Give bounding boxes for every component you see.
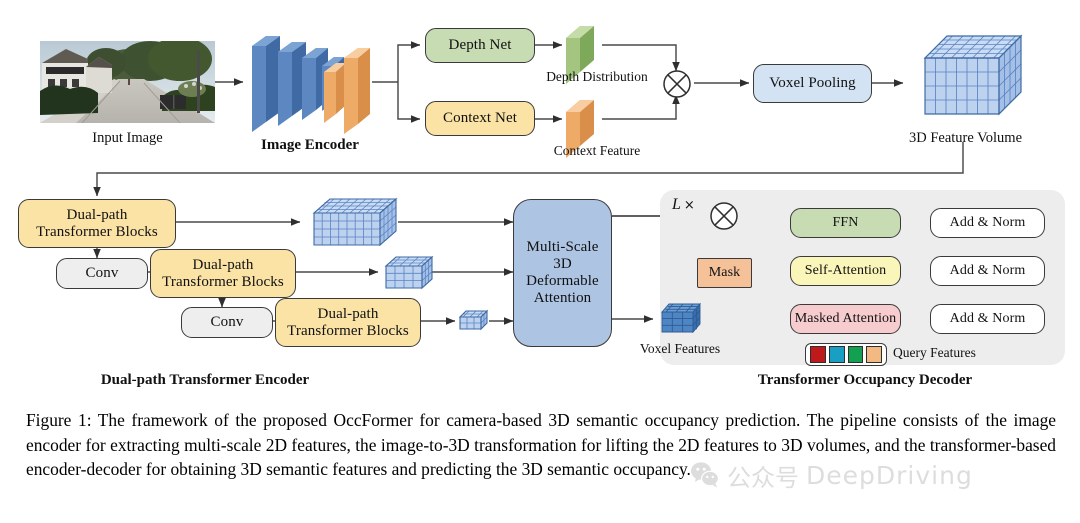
query-color-swatch-2 — [829, 346, 845, 363]
multiscale-3d-deformable-attention-box[interactable]: Multi-Scale 3D Deformable Attention — [513, 199, 612, 347]
add-norm-box-2[interactable]: Add & Norm — [930, 256, 1045, 286]
dual-path-block-3-line1: Dual-path — [318, 306, 379, 323]
multiscale-voxel-grid-medium — [378, 252, 438, 294]
dual-path-block-2-line2: Transformer Blocks — [162, 274, 284, 291]
dual-path-block-3-line2: Transformer Blocks — [287, 323, 409, 340]
depth-distribution-label: Depth Distribution — [527, 69, 667, 85]
input-image-label: Input Image — [40, 130, 215, 147]
dual-path-block-1-line1: Dual-path — [67, 207, 128, 224]
conv-box-2[interactable]: Conv — [181, 307, 273, 338]
dual-path-transformer-block-1[interactable]: Dual-path Transformer Blocks — [18, 199, 176, 248]
conv-box-1[interactable]: Conv — [56, 258, 148, 289]
msda-line-1: Multi-Scale — [527, 239, 599, 256]
figure-caption: Figure 1: The framework of the proposed … — [26, 408, 1056, 482]
query-features-swatches[interactable] — [805, 343, 887, 366]
voxel-features-label: Voxel Features — [615, 341, 745, 357]
dual-path-transformer-block-2[interactable]: Dual-path Transformer Blocks — [150, 249, 296, 298]
msda-line-3: Deformable — [526, 273, 599, 290]
image-encoder-graphic — [246, 16, 372, 128]
depth-distribution-graphic — [562, 18, 608, 76]
multiply-operator-top — [661, 68, 693, 100]
voxel-features-graphic — [655, 298, 703, 338]
dual-path-transformer-block-3[interactable]: Dual-path Transformer Blocks — [275, 298, 421, 347]
query-color-swatch-3 — [848, 346, 864, 363]
add-norm-box-1[interactable]: Add & Norm — [930, 208, 1045, 238]
msda-line-2: 3D — [553, 256, 572, 273]
encoder-title: Dual-path Transformer Encoder — [40, 372, 370, 389]
feature-volume-graphic — [903, 28, 1025, 128]
multiscale-voxel-grid-large — [300, 193, 400, 255]
query-features-label: Query Features — [893, 345, 1013, 361]
input-image-thumbnail — [40, 41, 215, 123]
multiscale-voxel-grid-small — [455, 306, 491, 334]
dual-path-block-2-line1: Dual-path — [193, 257, 254, 274]
voxel-pooling-box[interactable]: Voxel Pooling — [753, 64, 872, 103]
multiply-operator-decoder — [708, 200, 740, 232]
context-feature-label: Context Feature — [532, 143, 662, 159]
context-net-box[interactable]: Context Net — [425, 101, 535, 136]
masked-attention-box[interactable]: Masked Attention — [790, 304, 901, 334]
figure-root: Input Image Image Encoder Depth Net Cont… — [0, 0, 1080, 523]
ffn-box[interactable]: FFN — [790, 208, 901, 238]
msda-line-4: Attention — [534, 290, 592, 307]
dual-path-block-1-line2: Transformer Blocks — [36, 224, 158, 241]
context-feature-graphic — [562, 92, 608, 150]
query-color-swatch-1 — [810, 346, 826, 363]
decoder-repeat-label: L× — [672, 196, 695, 214]
mask-box[interactable]: Mask — [697, 258, 752, 288]
decoder-title: Transformer Occupancy Decoder — [700, 372, 1030, 389]
feature-volume-label: 3D Feature Volume — [893, 130, 1038, 147]
depth-net-box[interactable]: Depth Net — [425, 28, 535, 63]
query-color-swatch-4 — [866, 346, 882, 363]
decoder-repeat-letter: L — [672, 196, 681, 213]
decoder-repeat-times: × — [684, 198, 695, 213]
add-norm-box-3[interactable]: Add & Norm — [930, 304, 1045, 334]
image-encoder-label: Image Encoder — [240, 137, 380, 154]
self-attention-box[interactable]: Self-Attention — [790, 256, 901, 286]
